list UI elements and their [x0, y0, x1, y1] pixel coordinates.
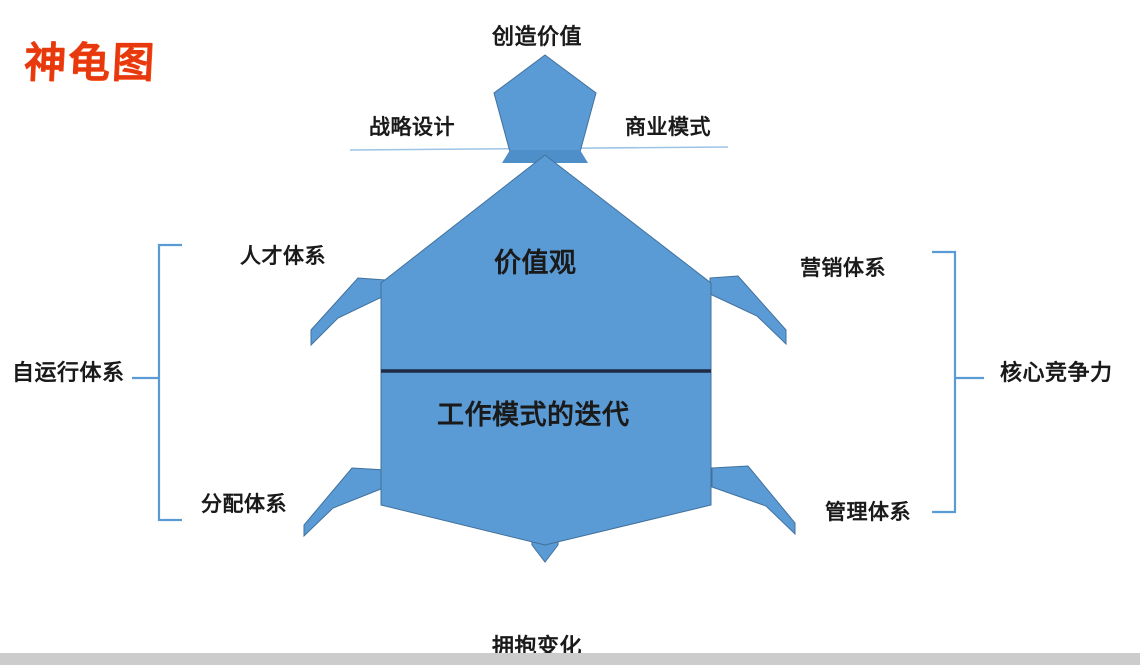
leg-rear-left-shape	[304, 468, 386, 536]
label-strategy-design: 战略设计	[369, 116, 455, 140]
bottom-bar	[0, 653, 1140, 665]
label-values: 价值观	[494, 248, 577, 279]
turtle-shell-shape	[381, 155, 711, 545]
page-title: 神龟图	[23, 42, 157, 84]
slide-canvas: 神龟图 创造价值 战略设计 商业模式 人才体系 营销体系 分配体系 管理体系 价…	[0, 0, 1140, 665]
label-self-operating-system: 自运行体系	[12, 360, 125, 385]
leg-front-right-shape	[710, 276, 786, 344]
label-core-competitiveness: 核心竞争力	[1000, 360, 1113, 385]
label-distribution-system: 分配体系	[201, 493, 287, 517]
turtle-diagram-graphic	[0, 0, 1140, 665]
right-bracket	[932, 252, 955, 512]
leg-rear-right-shape	[712, 466, 795, 534]
leg-front-left-shape	[311, 278, 386, 345]
label-business-model: 商业模式	[625, 116, 711, 140]
label-create-value: 创造价值	[492, 24, 582, 49]
label-marketing-system: 营销体系	[800, 257, 886, 281]
label-work-mode-iteration: 工作模式的迭代	[437, 400, 630, 431]
left-bracket	[159, 245, 182, 520]
label-talent-system: 人才体系	[240, 245, 326, 269]
turtle-head-shape	[494, 55, 596, 152]
label-management-system: 管理体系	[825, 501, 911, 525]
